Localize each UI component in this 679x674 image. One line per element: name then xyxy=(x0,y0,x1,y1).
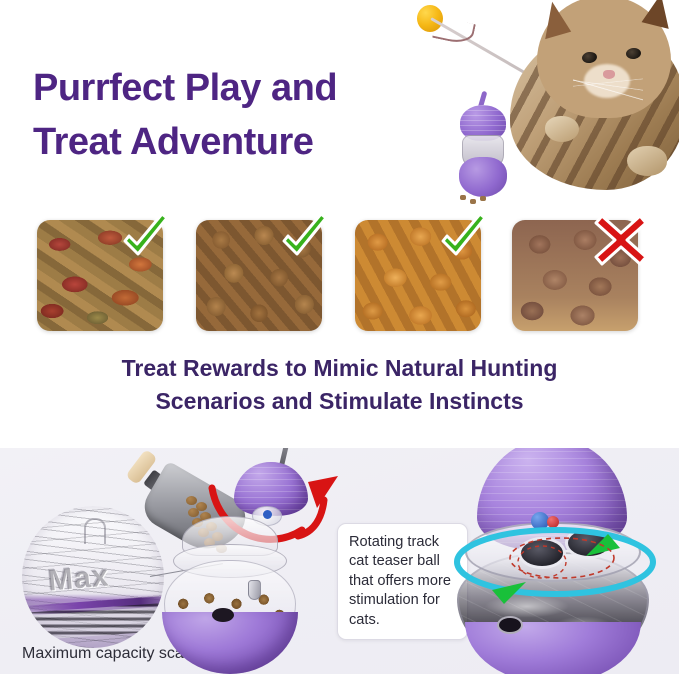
jar-handle-detail xyxy=(84,518,106,544)
treat-dispensing-hole xyxy=(212,608,234,622)
kitten-playing-scene xyxy=(394,0,679,215)
treat-dispenser-cutaway xyxy=(435,448,670,674)
headline-line-2: Treat Adventure xyxy=(33,116,433,170)
jar-purple-base xyxy=(162,612,298,674)
kitten-whiskers xyxy=(573,74,643,104)
food-comparison-row xyxy=(0,220,679,334)
kitten-paw-front xyxy=(545,116,579,142)
track-ball-socket-right xyxy=(568,530,610,556)
max-embossed-label: Max xyxy=(47,559,111,598)
cutaway-dispensing-hole xyxy=(497,616,523,634)
top-hero-section: Purrfect Play and Treat Adventure xyxy=(0,0,679,448)
treat-dispenser-open-jar xyxy=(160,516,302,674)
subtitle-line-1: Treat Rewards to Mimic Natural Hunting xyxy=(0,352,679,385)
green-check-icon xyxy=(115,208,177,270)
jar-internal-bell xyxy=(248,580,261,600)
tabby-kitten xyxy=(485,0,679,192)
spilled-kibble xyxy=(460,195,466,200)
food-thumb-mixed-kibble xyxy=(37,220,163,331)
scoop-kibble xyxy=(186,496,197,505)
food-thumb-disc-kibble xyxy=(196,220,322,331)
food-thumb-wet-food xyxy=(512,220,638,331)
spilled-kibble xyxy=(480,196,486,201)
cutaway-purple-base xyxy=(465,622,641,674)
red-cross-icon xyxy=(590,208,652,270)
product-infographic: Purrfect Play and Treat Adventure xyxy=(0,0,679,674)
green-check-icon xyxy=(433,208,495,270)
kitten-paw-rear xyxy=(627,146,667,176)
hero-treat-dispenser-toy xyxy=(454,95,512,200)
subtitle-line-2: Scenarios and Stimulate Instincts xyxy=(0,385,679,418)
subtitle: Treat Rewards to Mimic Natural Hunting S… xyxy=(0,352,679,417)
feature-detail-section: Max Maximum capacity scale xyxy=(0,448,679,674)
track-red-ball xyxy=(547,516,559,528)
toy-purple-base xyxy=(459,157,507,197)
spilled-kibble xyxy=(470,199,476,204)
food-thumb-triangle-kibble xyxy=(355,220,481,331)
green-check-icon xyxy=(274,208,336,270)
track-ball-socket-left xyxy=(521,540,563,566)
removable-lid xyxy=(226,454,314,524)
page-title: Purrfect Play and Treat Adventure xyxy=(33,62,433,170)
headline-line-1: Purrfect Play and xyxy=(33,62,433,116)
